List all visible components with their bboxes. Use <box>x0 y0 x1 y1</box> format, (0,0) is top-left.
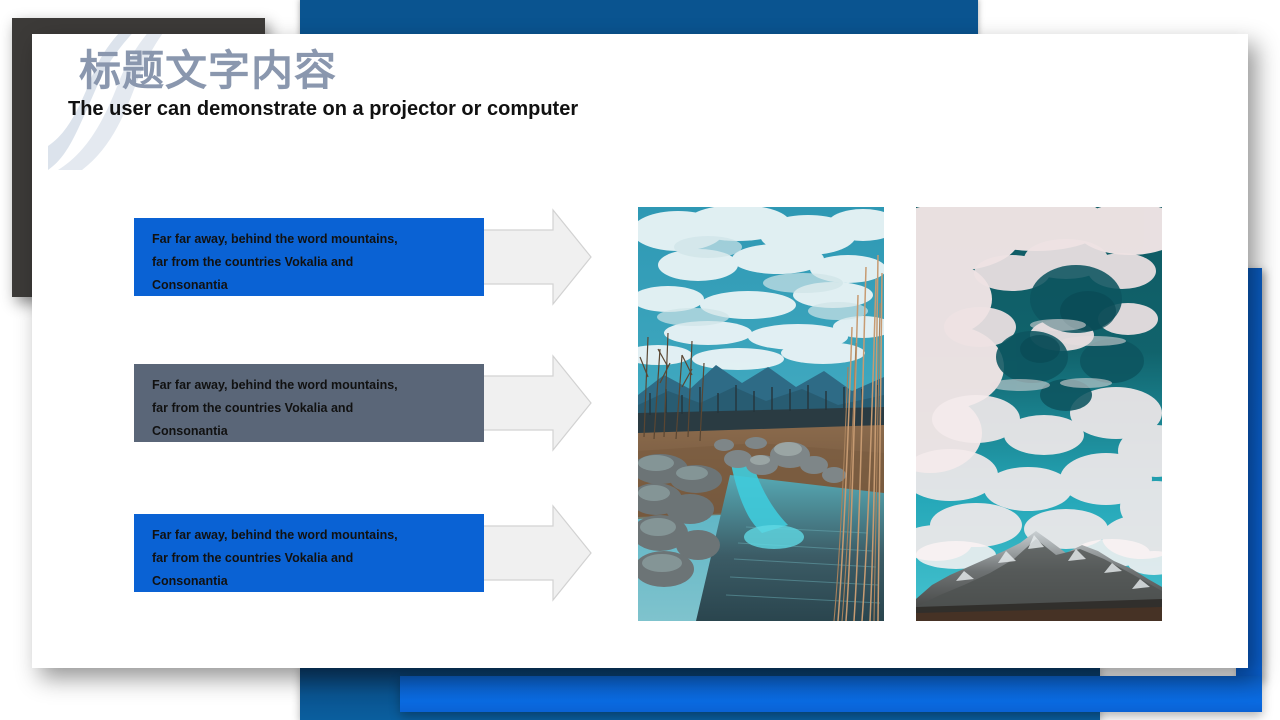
text-box-1-line-2: far from the countries Vokalia and <box>152 251 462 274</box>
background-rect-top <box>300 0 978 36</box>
text-box-3-line-1: Far far away, behind the word mountains, <box>152 524 462 547</box>
arrow-right-icon-2 <box>483 354 593 452</box>
photo-waterfall-landscape[interactable] <box>638 207 884 621</box>
text-box-3[interactable]: Far far away, behind the word mountains,… <box>134 514 484 592</box>
slide-card: 标题文字内容 The user can demonstrate on a pro… <box>32 34 1248 668</box>
text-box-2-line-3: Consonantia <box>152 420 462 443</box>
content-row-3: Far far away, behind the word mountains,… <box>32 504 592 604</box>
page-title: 标题文字内容 <box>79 50 337 92</box>
text-box-3-line-3: Consonantia <box>152 570 462 593</box>
text-box-2[interactable]: Far far away, behind the word mountains,… <box>134 364 484 442</box>
arrow-right-icon-1 <box>483 208 593 306</box>
text-box-1-line-1: Far far away, behind the word mountains, <box>152 228 462 251</box>
text-box-1-line-3: Consonantia <box>152 274 462 297</box>
text-box-1[interactable]: Far far away, behind the word mountains,… <box>134 218 484 296</box>
page-subtitle: The user can demonstrate on a projector … <box>68 98 578 121</box>
arrow-right-icon-3 <box>483 504 593 602</box>
photo-clouds-mountain[interactable] <box>916 207 1162 621</box>
text-box-2-line-2: far from the countries Vokalia and <box>152 397 462 420</box>
content-row-1: Far far away, behind the word mountains,… <box>32 208 592 308</box>
slide-canvas: 标题文字内容 The user can demonstrate on a pro… <box>0 0 1280 720</box>
text-box-3-line-2: far from the countries Vokalia and <box>152 547 462 570</box>
background-rect-bottom-blue <box>400 676 1262 712</box>
text-box-2-line-1: Far far away, behind the word mountains, <box>152 374 462 397</box>
content-row-2: Far far away, behind the word mountains,… <box>32 354 592 454</box>
